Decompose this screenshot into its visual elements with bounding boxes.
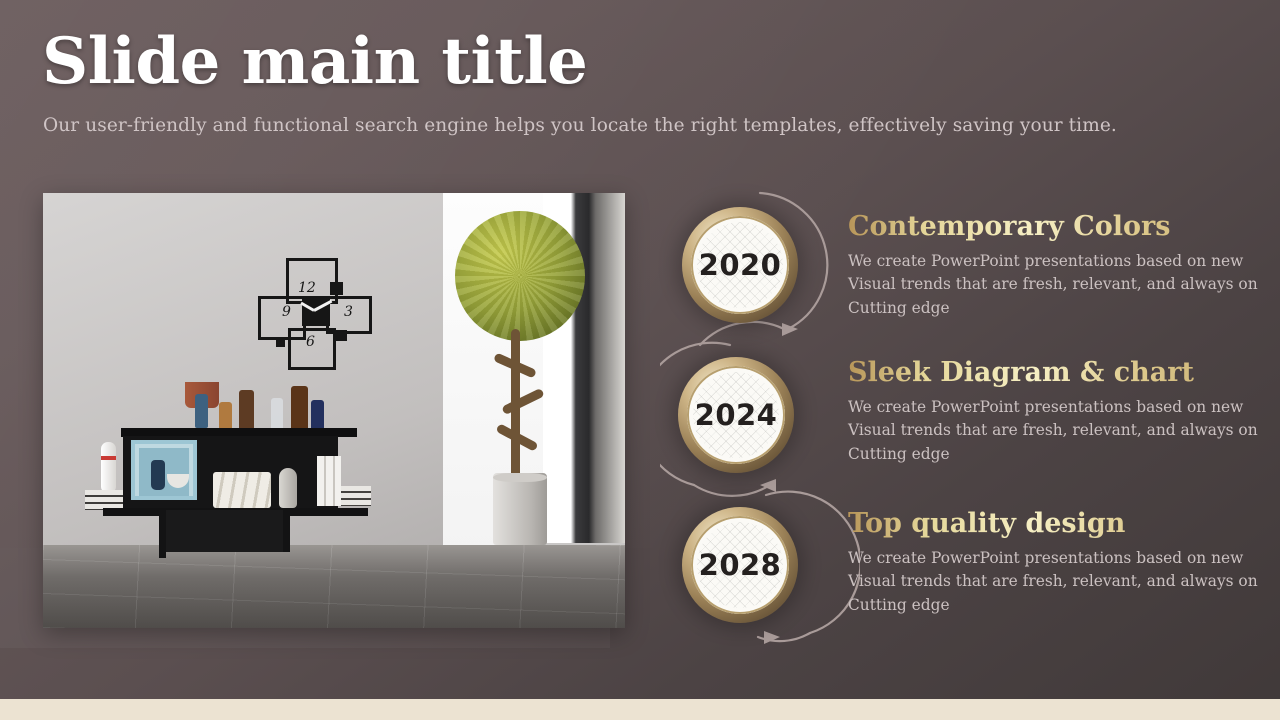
clock-numeral-3: 3 — [344, 304, 353, 320]
shelf-unit — [103, 398, 368, 558]
timeline-badge-2024[interactable]: 2024 — [678, 357, 794, 473]
timeline-year-label: 2024 — [695, 398, 778, 432]
interior-photo: 12 9 3 6 — [43, 193, 625, 628]
timeline-body-line: Visual trends that are fresh, relevant, … — [848, 273, 1280, 296]
timeline-badge-2028[interactable]: 2028 — [682, 507, 798, 623]
timeline-body-line: Visual trends that are fresh, relevant, … — [848, 570, 1280, 593]
framed-shelf-niche — [131, 440, 197, 500]
timeline-group: 2020 2024 2028 — [660, 185, 860, 655]
scrolls-icon — [317, 456, 341, 506]
clock-numeral-6: 6 — [306, 334, 315, 350]
page-subtitle: Our user-friendly and functional search … — [43, 115, 1117, 136]
timeline-year-label: 2020 — [699, 248, 782, 282]
timeline-year-label: 2028 — [699, 548, 782, 582]
timeline-heading: Top quality design — [848, 508, 1280, 539]
timeline-body-line: Visual trends that are fresh, relevant, … — [848, 419, 1280, 442]
timeline-text-block-1: Contemporary Colors We create PowerPoint… — [848, 211, 1280, 320]
wall-clock-icon: 12 9 3 6 — [258, 258, 403, 378]
timeline-body-line: We create PowerPoint presentations based… — [848, 547, 1280, 570]
presentation-slide: Slide main title Our user-friendly and f… — [0, 0, 1280, 720]
timeline-body-line: Cutting edge — [848, 297, 1280, 320]
timeline-heading: Sleek Diagram & chart — [848, 357, 1280, 388]
vase-icon — [279, 468, 297, 508]
timeline-text-block-3: Top quality design We create PowerPoint … — [848, 508, 1280, 617]
page-title: Slide main title — [42, 28, 587, 95]
timeline-body-line: We create PowerPoint presentations based… — [848, 250, 1280, 273]
timeline-text-block-2: Sleek Diagram & chart We create PowerPoi… — [848, 357, 1280, 466]
clock-numeral-12: 12 — [298, 280, 316, 296]
timeline-body-line: Cutting edge — [848, 594, 1280, 617]
rolled-objects — [213, 472, 271, 508]
clock-numeral-9: 9 — [282, 304, 291, 320]
timeline-body-line: We create PowerPoint presentations based… — [848, 396, 1280, 419]
timeline-heading: Contemporary Colors — [848, 211, 1280, 242]
bottom-accent-strip — [0, 699, 1280, 720]
bowling-pin-icon — [101, 442, 116, 492]
topiary-tree-icon — [455, 211, 585, 541]
timeline-badge-2020[interactable]: 2020 — [682, 207, 798, 323]
timeline-body-line: Cutting edge — [848, 443, 1280, 466]
planter-pot — [493, 473, 547, 545]
